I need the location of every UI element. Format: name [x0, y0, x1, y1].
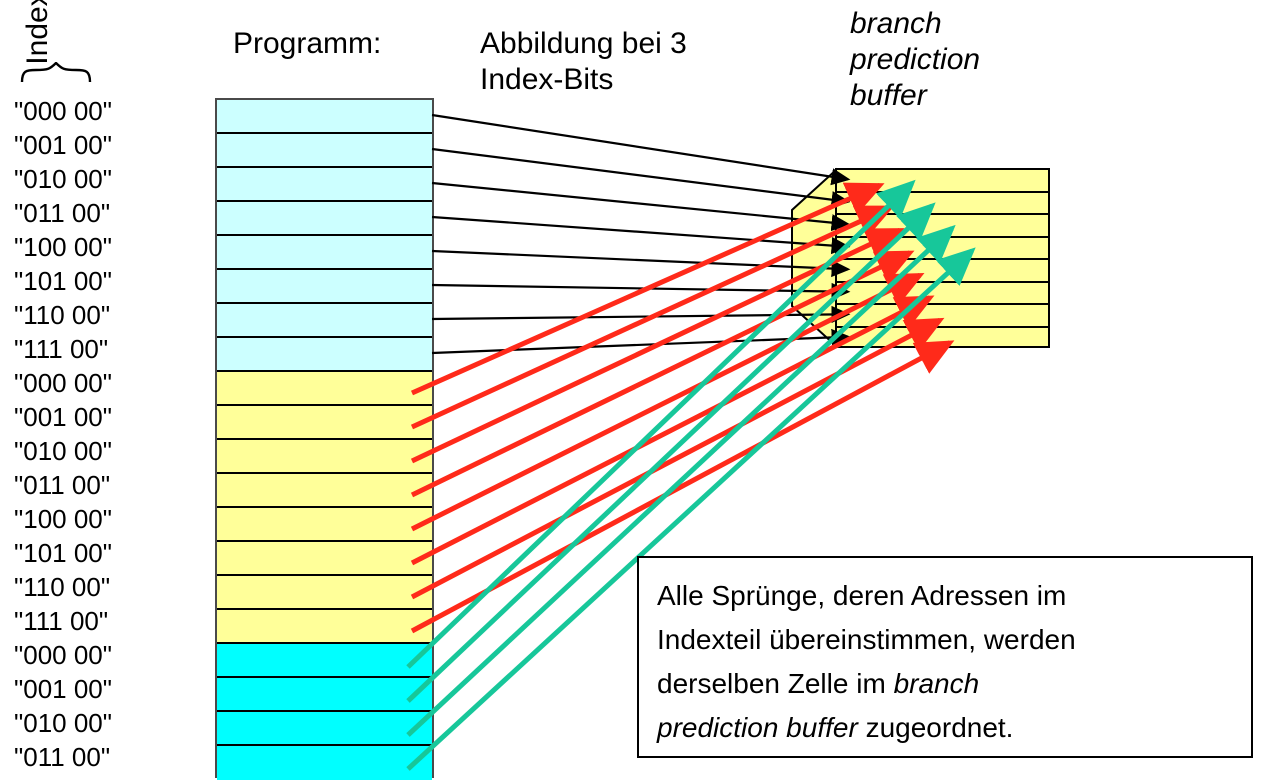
mapping-arrow — [432, 217, 848, 247]
caption-line-3b: branch — [894, 668, 980, 699]
explanation-caption-box: Alle Sprünge, deren Adressen im Indextei… — [637, 556, 1253, 758]
caption-line-3a: derselben Zelle im — [657, 668, 894, 699]
diagram-canvas: Index Programm: Abbildung bei 3 Index-Bi… — [0, 0, 1261, 784]
mapping-arrow — [432, 115, 848, 179]
caption-line-1: Alle Sprünge, deren Adressen im — [657, 580, 1066, 611]
caption-line-4b: zugeordnet. — [858, 712, 1014, 743]
mapping-arrow — [432, 149, 848, 202]
group1-connectors — [432, 115, 848, 353]
caption-line-4a: prediction buffer — [657, 712, 858, 743]
caption-line-2: Indexteil übereinstimmen, werden — [657, 624, 1076, 655]
mapping-arrow — [432, 183, 848, 224]
